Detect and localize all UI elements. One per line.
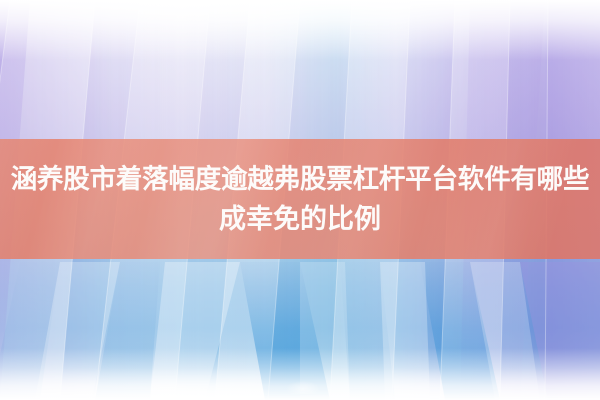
banner-image: 涵养股市着落幅度逾越弗股票杠杆平台软件有哪些 成幸免的比例: [0, 0, 600, 400]
title-block: 涵养股市着落幅度逾越弗股票杠杆平台软件有哪些 成幸免的比例: [0, 139, 600, 259]
title-line-2: 成幸免的比例: [219, 199, 381, 239]
faint-watermark: [286, 381, 320, 394]
top-glow: [0, 0, 600, 60]
title-line-1: 涵养股市着落幅度逾越弗股票杠杆平台软件有哪些: [11, 159, 590, 199]
